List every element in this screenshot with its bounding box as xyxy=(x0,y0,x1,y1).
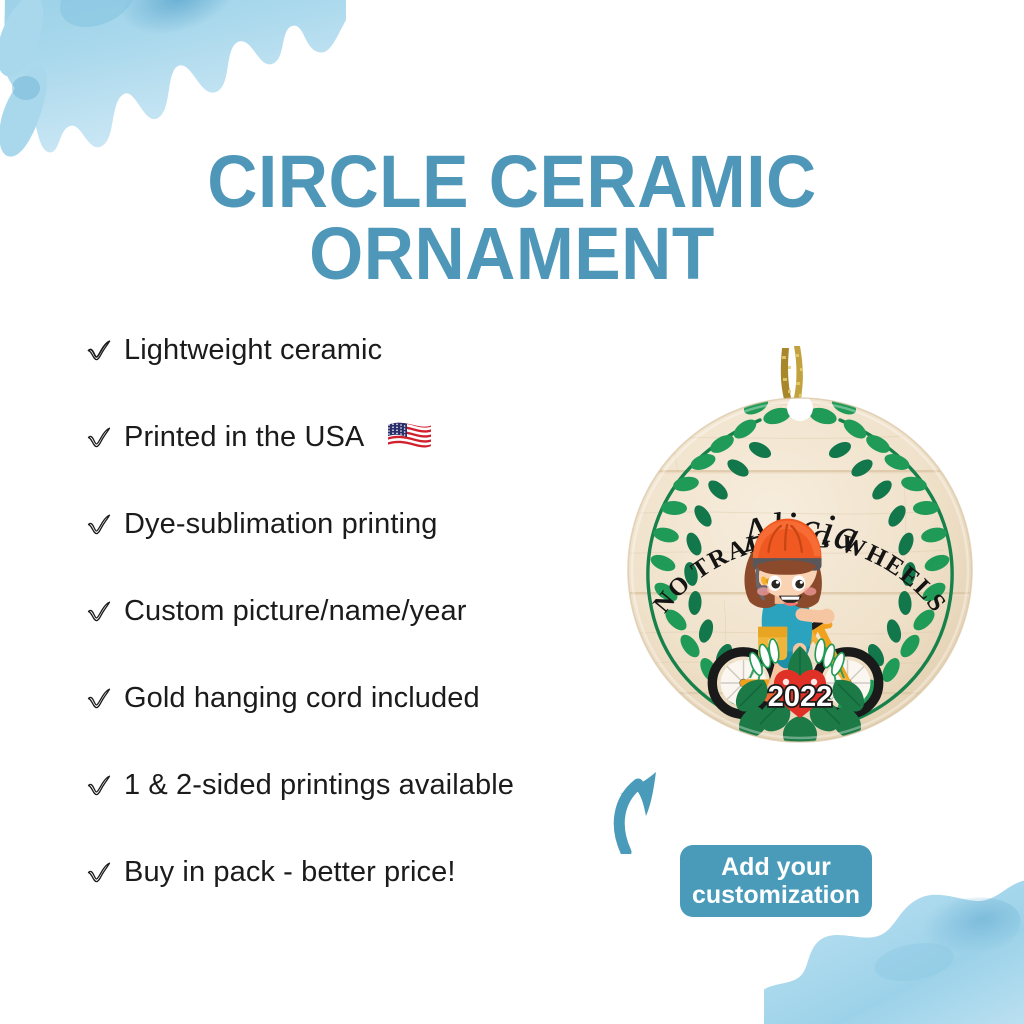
feature-label: Lightweight ceramic xyxy=(124,334,382,367)
list-item: Gold hanging cord included xyxy=(86,673,606,723)
feature-label: Printed in the USA xyxy=(124,421,364,454)
list-item: Custom picture/name/year xyxy=(86,586,606,636)
feature-list: Lightweight ceramic Printed in the USA xyxy=(86,325,606,897)
ornament-illustration: Alicia NO TRAINING WHEELS xyxy=(604,344,996,744)
ornament-product-image: Alicia NO TRAINING WHEELS xyxy=(604,344,996,744)
feature-label: Buy in pack - better price! xyxy=(124,856,456,889)
list-item: Printed in the USA xyxy=(86,412,606,462)
check-outline-icon xyxy=(86,772,112,798)
page-title: CIRCLE CERAMIC ORNAMENT xyxy=(31,146,994,291)
check-outline-icon xyxy=(86,685,112,711)
curved-up-arrow-icon xyxy=(612,768,688,854)
list-item: Dye-sublimation printing xyxy=(86,499,606,549)
ornament-year: 2022 xyxy=(768,681,833,713)
check-outline-icon xyxy=(86,424,112,450)
feature-label: 1 & 2-sided printings available xyxy=(124,769,514,802)
check-outline-icon xyxy=(86,598,112,624)
page-title-line-2: ORNAMENT xyxy=(31,218,994,291)
feature-label: Gold hanging cord included xyxy=(124,682,480,715)
us-flag-icon xyxy=(386,422,432,452)
check-outline-icon xyxy=(86,337,112,363)
check-outline-icon xyxy=(86,859,112,885)
check-outline-icon xyxy=(86,511,112,537)
feature-label: Custom picture/name/year xyxy=(124,595,466,628)
list-item: Lightweight ceramic xyxy=(86,325,606,375)
page-title-line-1: CIRCLE CERAMIC xyxy=(31,146,994,219)
add-customization-button[interactable]: Add your customization xyxy=(680,845,872,917)
list-item: Buy in pack - better price! xyxy=(86,847,606,897)
product-infographic: CIRCLE CERAMIC ORNAMENT Lightweight cera… xyxy=(0,0,1024,1024)
list-item: 1 & 2-sided printings available xyxy=(86,760,606,810)
feature-label: Dye-sublimation printing xyxy=(124,508,437,541)
